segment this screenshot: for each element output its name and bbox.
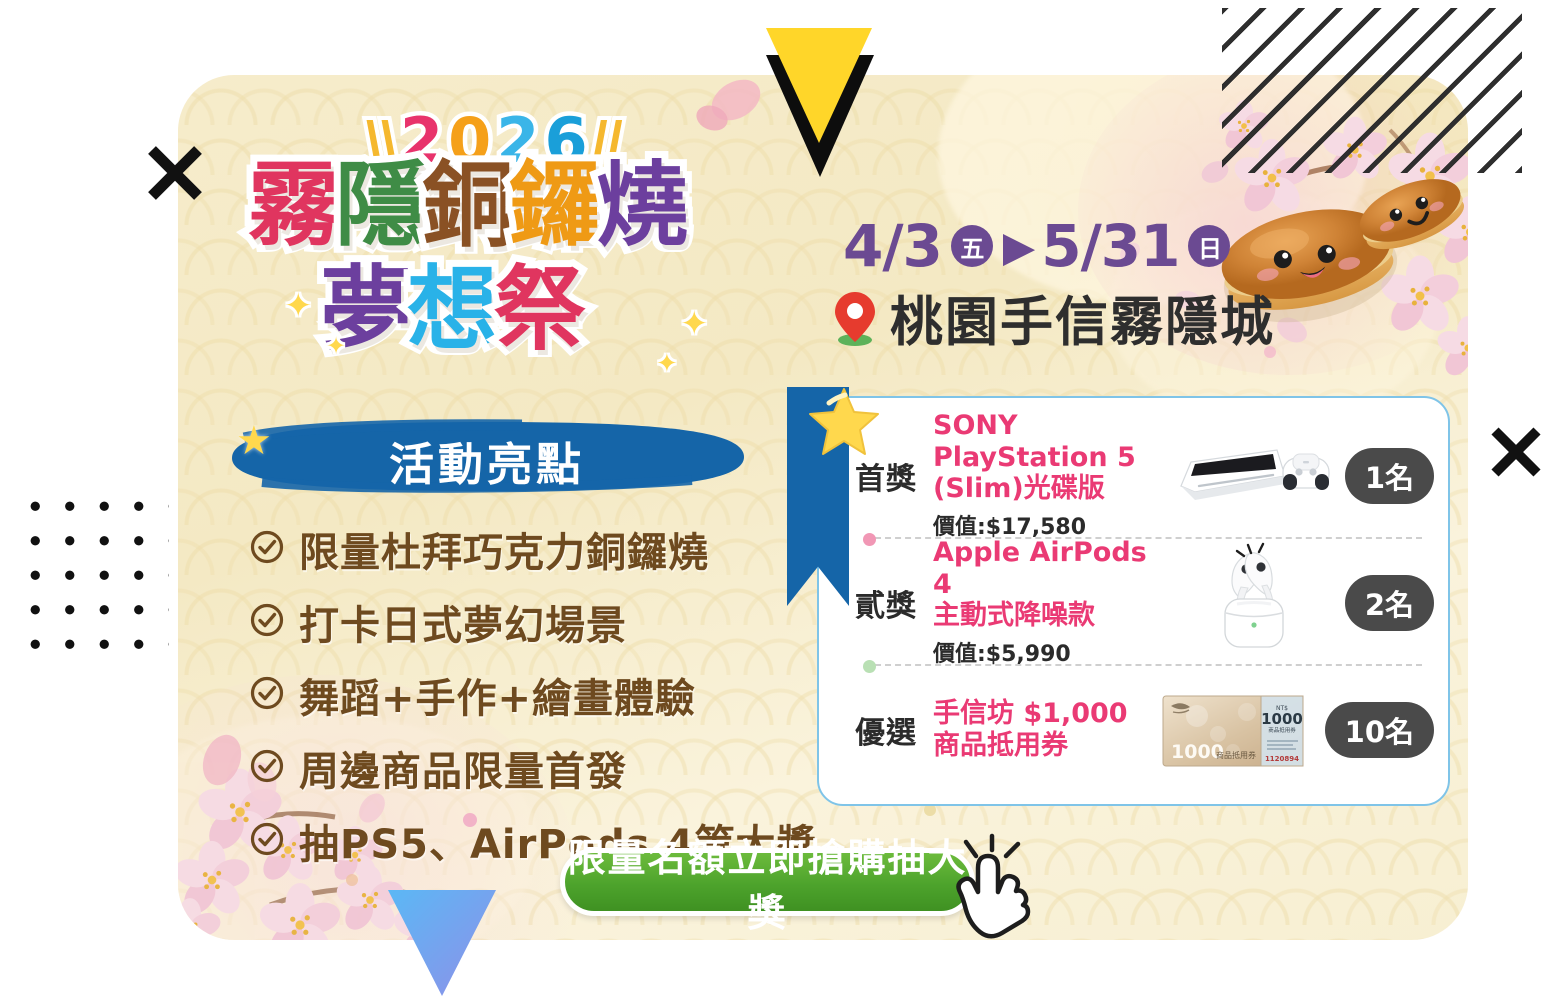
date-start-weekday-badge: 五	[951, 225, 993, 267]
date-end-weekday-badge: 日	[1188, 225, 1230, 267]
svg-text:商品抵用券: 商品抵用券	[1268, 726, 1296, 734]
sparkle-icon: ✦	[680, 304, 709, 344]
prize-quantity-badge: 2名	[1345, 575, 1434, 631]
title-char: 鑼	[509, 162, 601, 250]
highlight-item-label: 打卡日式夢幻場景	[299, 593, 627, 651]
date-end: 5/31	[1041, 212, 1179, 280]
voucher-ticket-icon: NT$ 1000 商品抵用券 1120894 1000 商品抵用券	[1149, 678, 1317, 782]
dot-accent	[1433, 943, 1447, 957]
triangle-decoration-blue	[386, 888, 498, 1000]
prize-quantity-badge: 1名	[1345, 448, 1434, 504]
cta-area: 限量名額立即搶購抽大獎	[560, 848, 975, 916]
sparkle-icon: ✦	[326, 332, 346, 361]
event-date-range: 4/3 五 ▶ 5/31 日	[843, 212, 1235, 280]
highlight-item-label: 限量杜拜巧克力銅鑼燒	[299, 520, 709, 578]
prize-image	[1169, 424, 1337, 528]
highlight-item-label: 周邊商品限量首發	[299, 739, 627, 797]
pointing-hand-icon	[948, 838, 1044, 944]
prize-name-line1: SONY PlayStation 5	[933, 410, 1169, 474]
title-char: 銅	[422, 162, 514, 250]
promo-poster: \\ 2 0 2 6 // 霧 隱 銅 鑼 燒 夢 想 祭 ✦ ✦ ✦ ✦ 4/…	[0, 0, 1558, 1000]
prize-list-card: 首獎 SONY PlayStation 5 (Slim)光碟版 價值:$17,5…	[817, 396, 1450, 806]
dot-grid-decoration	[14, 485, 169, 670]
prize-rows: 首獎 SONY PlayStation 5 (Slim)光碟版 價值:$17,5…	[819, 398, 1448, 804]
check-circle-icon	[250, 603, 284, 642]
location-name: 桃園手信霧隱城	[890, 280, 1275, 356]
prize-name-line2: (Slim)光碟版	[933, 473, 1169, 505]
prize-name-line2: 主動式降噪款	[933, 600, 1169, 632]
airpods-icon	[1169, 551, 1337, 655]
star-icon	[807, 386, 881, 458]
x-mark-decoration-left	[144, 142, 206, 204]
prize-info: Apple AirPods 4 主動式降噪款 價值:$5,990	[927, 537, 1169, 669]
highlights-heading: 活動亮點	[222, 428, 752, 493]
star-icon: ★	[236, 418, 272, 464]
title-char: 祭	[494, 266, 586, 354]
svg-text:1120894: 1120894	[1265, 755, 1299, 763]
prize-name-line2: 商品抵用券	[933, 730, 1149, 762]
title-char: 想	[407, 266, 499, 354]
date-arrow-icon: ▶	[1003, 222, 1034, 271]
prize-name-line1: Apple AirPods 4	[933, 537, 1169, 601]
highlight-item: 打卡日式夢幻場景	[250, 593, 810, 651]
prize-rank-label: 貳獎	[855, 581, 927, 625]
check-circle-icon	[250, 676, 284, 715]
date-start: 4/3	[843, 212, 942, 280]
svg-text:1000: 1000	[1261, 710, 1303, 728]
prize-name-line1: 手信坊 $1,000	[933, 698, 1149, 730]
buy-now-button[interactable]: 限量名額立即搶購抽大獎	[560, 848, 975, 916]
prize-info: 手信坊 $1,000 商品抵用券	[927, 698, 1149, 762]
playstation5-console-icon	[1169, 424, 1337, 528]
prize-quantity-badge: 10名	[1325, 702, 1434, 758]
event-location: 桃園手信霧隱城	[832, 280, 1275, 356]
title-line-1: 霧 隱 銅 鑼 燒	[248, 162, 683, 250]
prize-image: NT$ 1000 商品抵用券 1120894 1000 商品抵用券	[1149, 678, 1317, 782]
highlight-item: 舞蹈+手作+繪畫體驗	[250, 666, 810, 724]
highlight-item-label: 舞蹈+手作+繪畫體驗	[299, 666, 696, 724]
x-mark-decoration-right	[1488, 424, 1544, 480]
sparkle-icon: ✦	[656, 348, 678, 379]
title-char: 隱	[335, 162, 427, 250]
highlight-item: 限量杜拜巧克力銅鑼燒	[250, 520, 810, 578]
title-char: 燒	[596, 162, 688, 250]
prize-row: 首獎 SONY PlayStation 5 (Slim)光碟版 價值:$17,5…	[819, 412, 1448, 539]
highlight-item: 周邊商品限量首發	[250, 739, 810, 797]
svg-text:商品抵用券: 商品抵用券	[1216, 750, 1256, 760]
event-title-lockup: \\ 2 0 2 6 // 霧 隱 銅 鑼 燒 夢 想 祭 ✦ ✦ ✦ ✦	[248, 104, 788, 372]
prize-info: SONY PlayStation 5 (Slim)光碟版 價值:$17,580	[927, 410, 1169, 542]
prize-row: 貳獎 Apple AirPods 4 主動式降噪款 價值:$5,990	[819, 539, 1448, 666]
prize-image	[1169, 551, 1337, 655]
map-pin-icon	[832, 290, 878, 346]
sparkle-icon: ✦	[284, 286, 313, 326]
prize-rank-label: 優選	[855, 708, 927, 752]
check-circle-icon	[250, 530, 284, 569]
check-circle-icon	[250, 749, 284, 788]
prize-row: 優選 手信坊 $1,000 商品抵用券	[819, 666, 1448, 793]
check-circle-icon	[250, 822, 284, 861]
title-line-2: 夢 想 祭	[320, 266, 581, 354]
title-char: 霧	[248, 162, 340, 250]
prize-rank-label: 首獎	[855, 454, 927, 498]
